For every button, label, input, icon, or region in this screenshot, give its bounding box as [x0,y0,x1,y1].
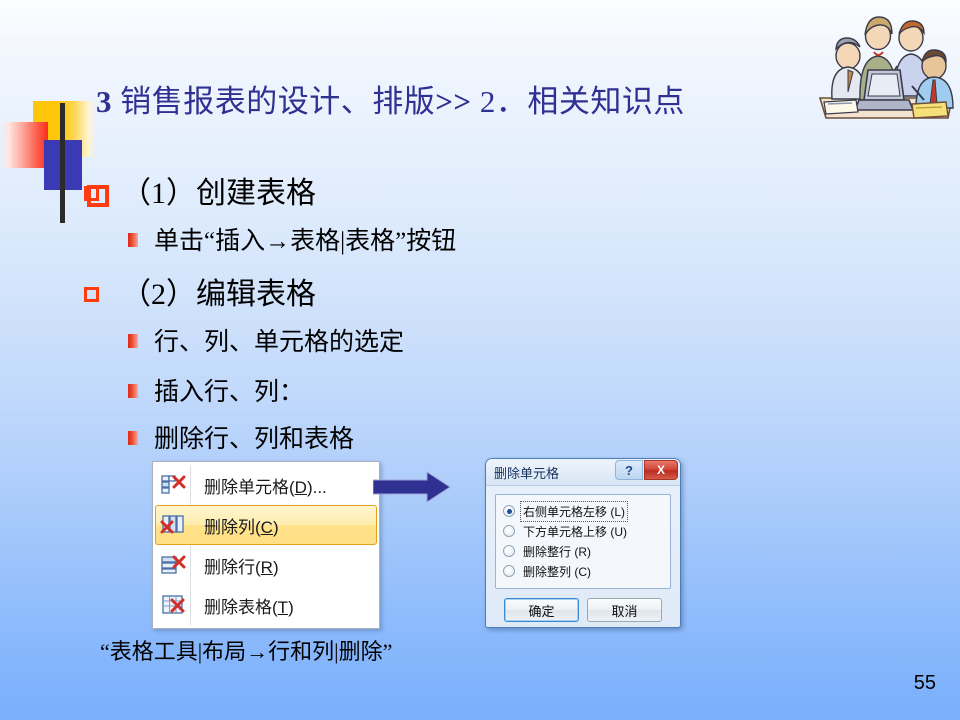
decor-vertical-line [60,103,65,223]
bullet-text: （1）创建表格 [121,177,316,210]
radio-shift-cells-left[interactable]: 右侧单元格左移 (L) [503,501,663,521]
radio-label: 删除整行 (R) [521,542,593,561]
bullet-item-2: 单击“插入→表格|表格”按钮 [128,225,456,259]
close-icon[interactable]: X [644,460,678,480]
radio-indicator [503,525,515,537]
title-main: 销售报表的设计、排版 [120,84,435,119]
menu-item-delete-column[interactable]: 删除列(C) [155,505,377,545]
bullet-text: 单击“插入→表格|表格”按钮 [154,228,456,255]
dialog-title-bar: 删除单元格 ? X [486,459,680,486]
delete-table-icon [156,592,190,618]
bullet-item-4: 行、列、单元格的选定 [128,326,404,360]
dialog-body: 右侧单元格左移 (L) 下方单元格上移 (U) 删除整行 (R) 删除整列 (C… [486,486,680,622]
menu-item-label: 删除单元格(D)... [190,473,327,498]
delete-context-menu[interactable]: 删除单元格(D)... 删除列(C) [152,461,380,629]
title-subsection: 2．相关知识点 [480,84,685,119]
bullet-marker-block-icon [128,384,138,398]
menu-item-delete-cells[interactable]: 删除单元格(D)... [155,465,377,505]
figure-caption: “表格工具|布局→行和列|删除” [100,634,392,666]
bullet-text: 插入行、列： [154,379,304,406]
bullet-item-1: （1）创建表格 [84,174,316,214]
decor-red-square [0,122,48,168]
menu-item-delete-table[interactable]: 删除表格(T) [155,585,377,625]
bullet-marker-square-icon [84,186,99,201]
flow-arrow-icon [373,471,451,503]
delete-cells-dialog[interactable]: 删除单元格 ? X 右侧单元格左移 (L) 下方单元格上移 (U) 删除整行 (… [485,458,681,628]
bullet-marker-square-icon [84,287,99,302]
page-title: 3 销售报表的设计、排版>> 2．相关知识点 [96,80,685,124]
bullet-item-5: 插入行、列： [128,376,304,410]
bullet-text: 删除行、列和表格 [154,426,354,453]
menu-item-label: 删除行(R) [190,553,279,578]
ok-button[interactable]: 确定 [504,598,579,622]
slide-canvas: 3 销售报表的设计、排版>> 2．相关知识点 [0,0,960,720]
radio-delete-entire-row[interactable]: 删除整行 (R) [503,541,663,561]
bullet-marker-block-icon [128,233,138,247]
menu-item-delete-row[interactable]: 删除行(R) [155,545,377,585]
radio-indicator [503,505,515,517]
radio-label: 右侧单元格左移 (L) [521,502,627,521]
radio-indicator [503,565,515,577]
delete-column-icon [156,512,190,538]
radio-label: 下方单元格上移 (U) [521,522,629,541]
bullet-marker-block-icon [128,334,138,348]
delete-option-group: 右侧单元格左移 (L) 下方单元格上移 (U) 删除整行 (R) 删除整列 (C… [495,494,671,589]
dialog-footer: 确定 取消 [495,589,671,622]
title-separator: >> [435,84,471,119]
menu-item-label: 删除表格(T) [190,593,294,618]
menu-item-label: 删除列(C) [190,513,279,538]
bullet-text: （2）编辑表格 [121,278,316,311]
bullet-text: 行、列、单元格的选定 [154,329,404,356]
title-number: 3 [96,84,112,119]
radio-shift-cells-up[interactable]: 下方单元格上移 (U) [503,521,663,541]
delete-row-icon [156,552,190,578]
people-at-laptop-clipart [812,4,958,122]
bullet-marker-block-icon [128,431,138,445]
cancel-button[interactable]: 取消 [587,598,662,622]
delete-cells-icon [156,472,190,498]
bullet-item-3: （2）编辑表格 [84,275,316,315]
page-number: 55 [914,672,936,695]
bullet-item-6: 删除行、列和表格 [128,423,354,457]
dialog-title: 删除单元格 [486,463,559,482]
radio-indicator [503,545,515,557]
dialog-window-buttons: ? X [615,460,678,480]
radio-label: 删除整列 (C) [521,562,593,581]
help-icon[interactable]: ? [615,460,643,480]
decor-horizontal-line [47,151,927,156]
radio-delete-entire-column[interactable]: 删除整列 (C) [503,561,663,581]
